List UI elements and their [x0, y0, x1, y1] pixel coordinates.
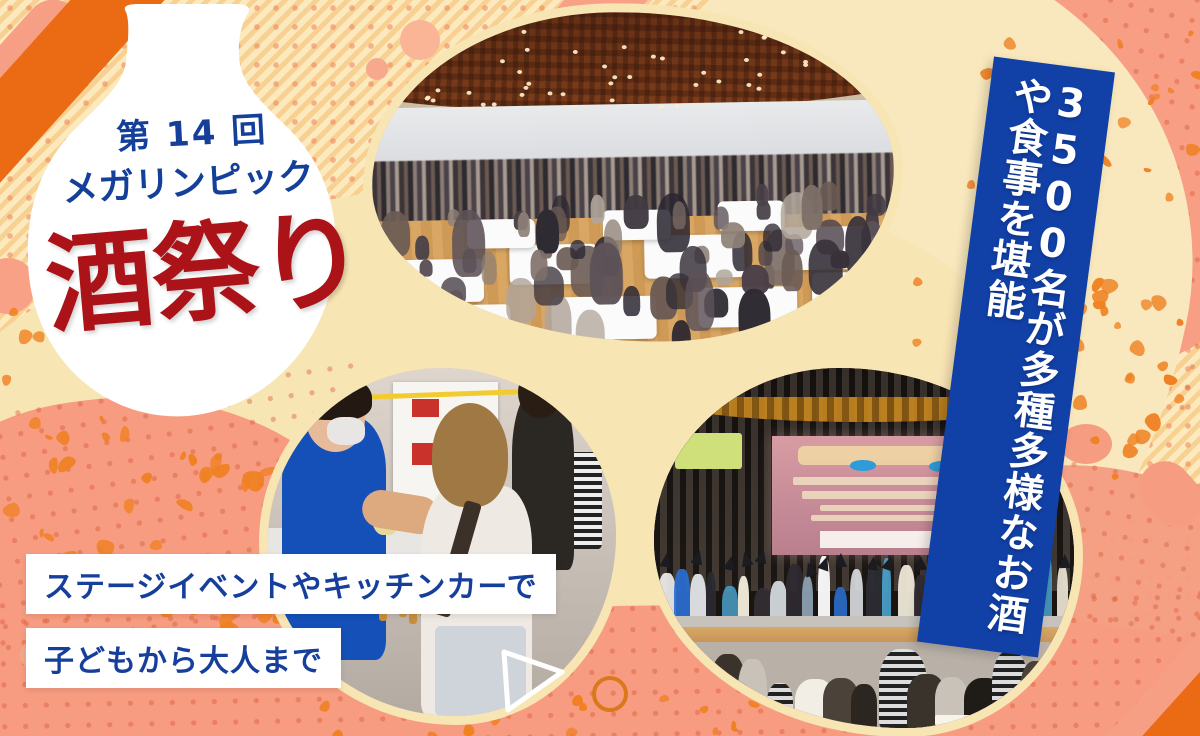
headline-event-name: メガリンピック	[61, 147, 315, 212]
ceiling-light	[716, 79, 721, 83]
headline-group: 第 14 回 メガリンピック 酒祭り	[18, 2, 378, 422]
party-hat	[659, 552, 673, 567]
party-hat	[754, 548, 769, 564]
hall-ceiling	[369, 7, 897, 116]
headline-main-title: 酒祭り	[42, 206, 368, 341]
decor-circle-outline	[592, 676, 628, 712]
party-hat	[738, 551, 753, 568]
audience-member	[767, 683, 793, 728]
stage-audience-area: 休憩所	[654, 642, 1074, 728]
audience-member	[1048, 676, 1074, 728]
ceiling-light	[500, 59, 505, 63]
stage-rest-area-sign: 休憩所	[935, 715, 1023, 725]
ceiling-light	[561, 92, 566, 96]
party-hat	[818, 554, 834, 571]
ceiling-light	[608, 82, 613, 86]
attendee	[394, 270, 428, 310]
party-hat	[866, 555, 880, 571]
attendee	[845, 216, 873, 275]
ceiling-light	[757, 73, 762, 77]
ceiling-light	[660, 57, 665, 61]
ceiling-light	[803, 63, 808, 67]
attendee	[535, 209, 559, 253]
vendor-staff-blue-shirt	[282, 417, 386, 661]
attendee	[517, 212, 530, 237]
attendee	[589, 242, 623, 305]
party-hat	[1059, 554, 1071, 568]
ceiling-light	[450, 32, 455, 36]
vendor-banner-mark-1	[412, 399, 439, 417]
attendee	[575, 310, 605, 347]
attendee	[385, 309, 400, 326]
caption-text-1: ステージイベントやキッチンカーで	[44, 562, 538, 606]
ceiling-light	[435, 88, 440, 92]
ceiling-light	[491, 102, 496, 106]
audience-member	[738, 659, 766, 728]
stage-side-sign	[675, 433, 742, 469]
photo-crowded-hall	[369, 7, 897, 346]
attendee	[826, 299, 847, 325]
party-hat	[690, 549, 705, 565]
attendee	[808, 240, 842, 295]
ceiling-light	[453, 46, 458, 50]
ceiling-light	[738, 30, 743, 34]
poster-canvas: 休憩所 第 14 回 メガリンピック 酒祭り 3500名が多種多様なお酒や食事を…	[0, 0, 1200, 736]
party-hat	[802, 561, 818, 578]
attendee	[590, 195, 605, 224]
ceiling-light	[701, 71, 706, 75]
screen-logo-left	[850, 460, 876, 471]
ceiling-light	[430, 98, 435, 102]
audience-member	[682, 684, 713, 728]
decor-triangle-outline	[500, 648, 566, 714]
ceiling-light	[446, 54, 451, 58]
attendee	[763, 224, 782, 252]
ceiling-light	[547, 91, 552, 95]
attendee	[570, 240, 585, 259]
audience-member	[654, 662, 682, 728]
ceiling-light	[612, 75, 617, 79]
attendee	[380, 211, 409, 256]
audience-member	[851, 684, 877, 728]
ceiling-light	[519, 92, 524, 96]
attendee	[481, 252, 497, 285]
ceiling-light	[744, 57, 749, 61]
ceiling-light	[781, 50, 786, 54]
attendee	[738, 288, 771, 343]
caption-box-secondary: 子どもから大人まで	[26, 628, 341, 688]
ceiling-light	[523, 86, 528, 90]
ceiling-light	[466, 91, 471, 95]
attendee	[781, 249, 803, 292]
attendee	[685, 270, 715, 331]
rest-sign-label: 休憩所	[935, 715, 1023, 725]
attendee	[530, 249, 547, 280]
ceiling-light	[572, 50, 577, 54]
screen-text-line-4	[811, 515, 946, 521]
ceiling-light	[741, 21, 746, 25]
screen-text-line-2	[802, 491, 955, 499]
vendor-customer-hair	[432, 403, 509, 507]
party-hat	[835, 553, 847, 567]
attendee	[506, 278, 537, 323]
ceiling-light	[747, 83, 752, 87]
caption-text-2: 子どもから大人まで	[44, 636, 323, 680]
attendee	[672, 201, 686, 229]
attendee	[756, 184, 768, 206]
attendee	[415, 236, 429, 260]
attendee	[716, 269, 732, 285]
party-hat	[722, 555, 737, 571]
attendee	[441, 277, 467, 305]
screen-answer-box	[820, 531, 942, 548]
attendee	[801, 184, 823, 230]
attendee	[623, 195, 649, 230]
ceiling-light	[658, 105, 663, 109]
screen-text-line-3	[820, 505, 938, 511]
attendee	[720, 222, 744, 249]
hall-scene	[369, 7, 897, 346]
ceiling-light	[804, 48, 809, 52]
caption-box-primary: ステージイベントやキッチンカーで	[26, 554, 556, 614]
attendee	[623, 285, 640, 316]
